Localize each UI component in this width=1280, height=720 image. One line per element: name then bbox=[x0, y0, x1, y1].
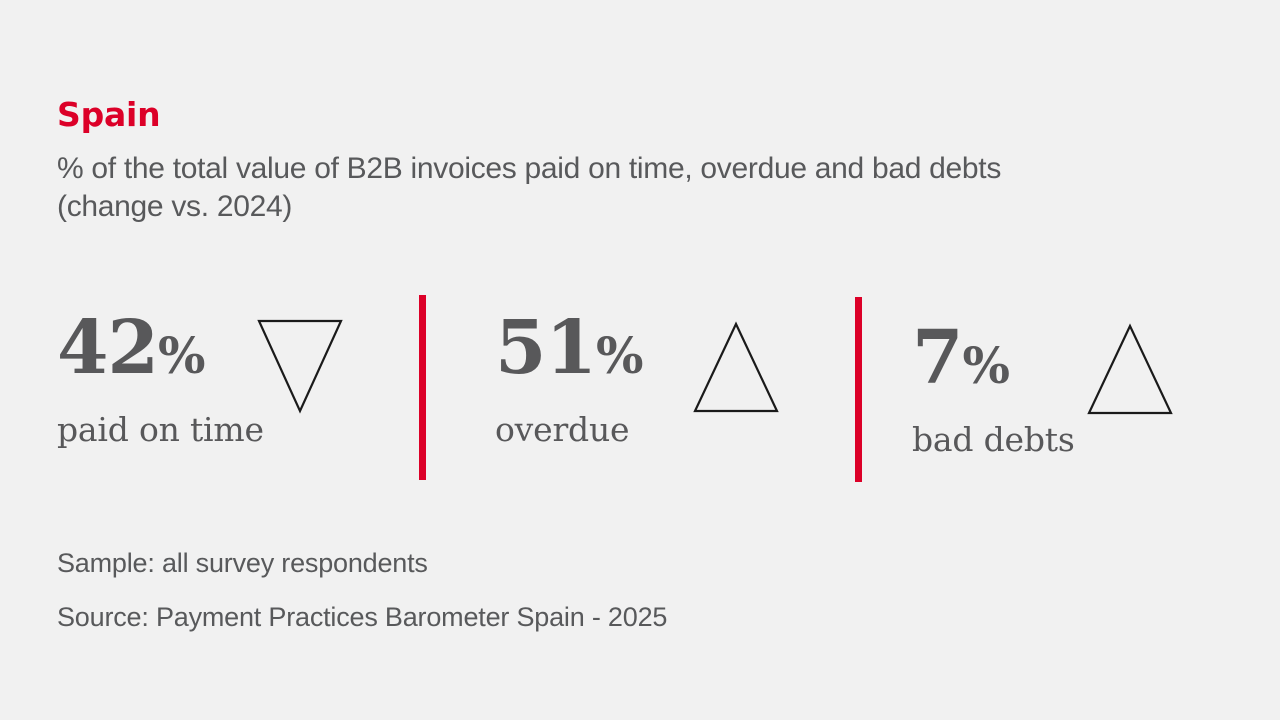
stat-value-overdue: 51% bbox=[495, 311, 643, 393]
page-title: Spain bbox=[57, 94, 160, 136]
stat-label-overdue: overdue bbox=[495, 410, 629, 450]
subtitle-line-1: % of the total value of B2B invoices pai… bbox=[57, 152, 1001, 185]
stat-number-bad-debts: 7 bbox=[912, 315, 963, 401]
footer-notes: Sample: all survey respondents Source: P… bbox=[57, 536, 1057, 644]
triangle-up-icon bbox=[693, 321, 779, 417]
stat-label-paid-on-time: paid on time bbox=[57, 410, 264, 450]
triangle-down-icon bbox=[257, 318, 343, 414]
stat-number-paid-on-time: 42 bbox=[57, 305, 158, 391]
stat-group-paid-on-time: 42% paid on time bbox=[57, 285, 407, 495]
subtitle-line-2: (change vs. 2024) bbox=[57, 188, 1217, 226]
stat-number-overdue: 51 bbox=[495, 305, 596, 391]
stat-value-paid-on-time: 42% bbox=[57, 311, 205, 393]
source-note: Source: Payment Practices Barometer Spai… bbox=[57, 590, 1057, 644]
percent-sign-bad-debts: % bbox=[963, 336, 1010, 395]
stat-value-bad-debts: 7% bbox=[912, 321, 1009, 403]
stat-label-bad-debts: bad debts bbox=[912, 420, 1075, 460]
sample-note: Sample: all survey respondents bbox=[57, 536, 1057, 590]
stats-row: 42% paid on time 51% overdue bbox=[0, 285, 1280, 495]
percent-sign-overdue: % bbox=[596, 326, 643, 385]
stat-group-overdue: 51% overdue bbox=[495, 285, 845, 495]
subtitle: % of the total value of B2B invoices pai… bbox=[57, 150, 1217, 226]
percent-sign-paid-on-time: % bbox=[158, 326, 205, 385]
infographic-canvas: Spain % of the total value of B2B invoic… bbox=[0, 0, 1280, 720]
stat-group-bad-debts: 7% bad debts bbox=[912, 285, 1242, 495]
triangle-up-icon bbox=[1087, 323, 1173, 419]
